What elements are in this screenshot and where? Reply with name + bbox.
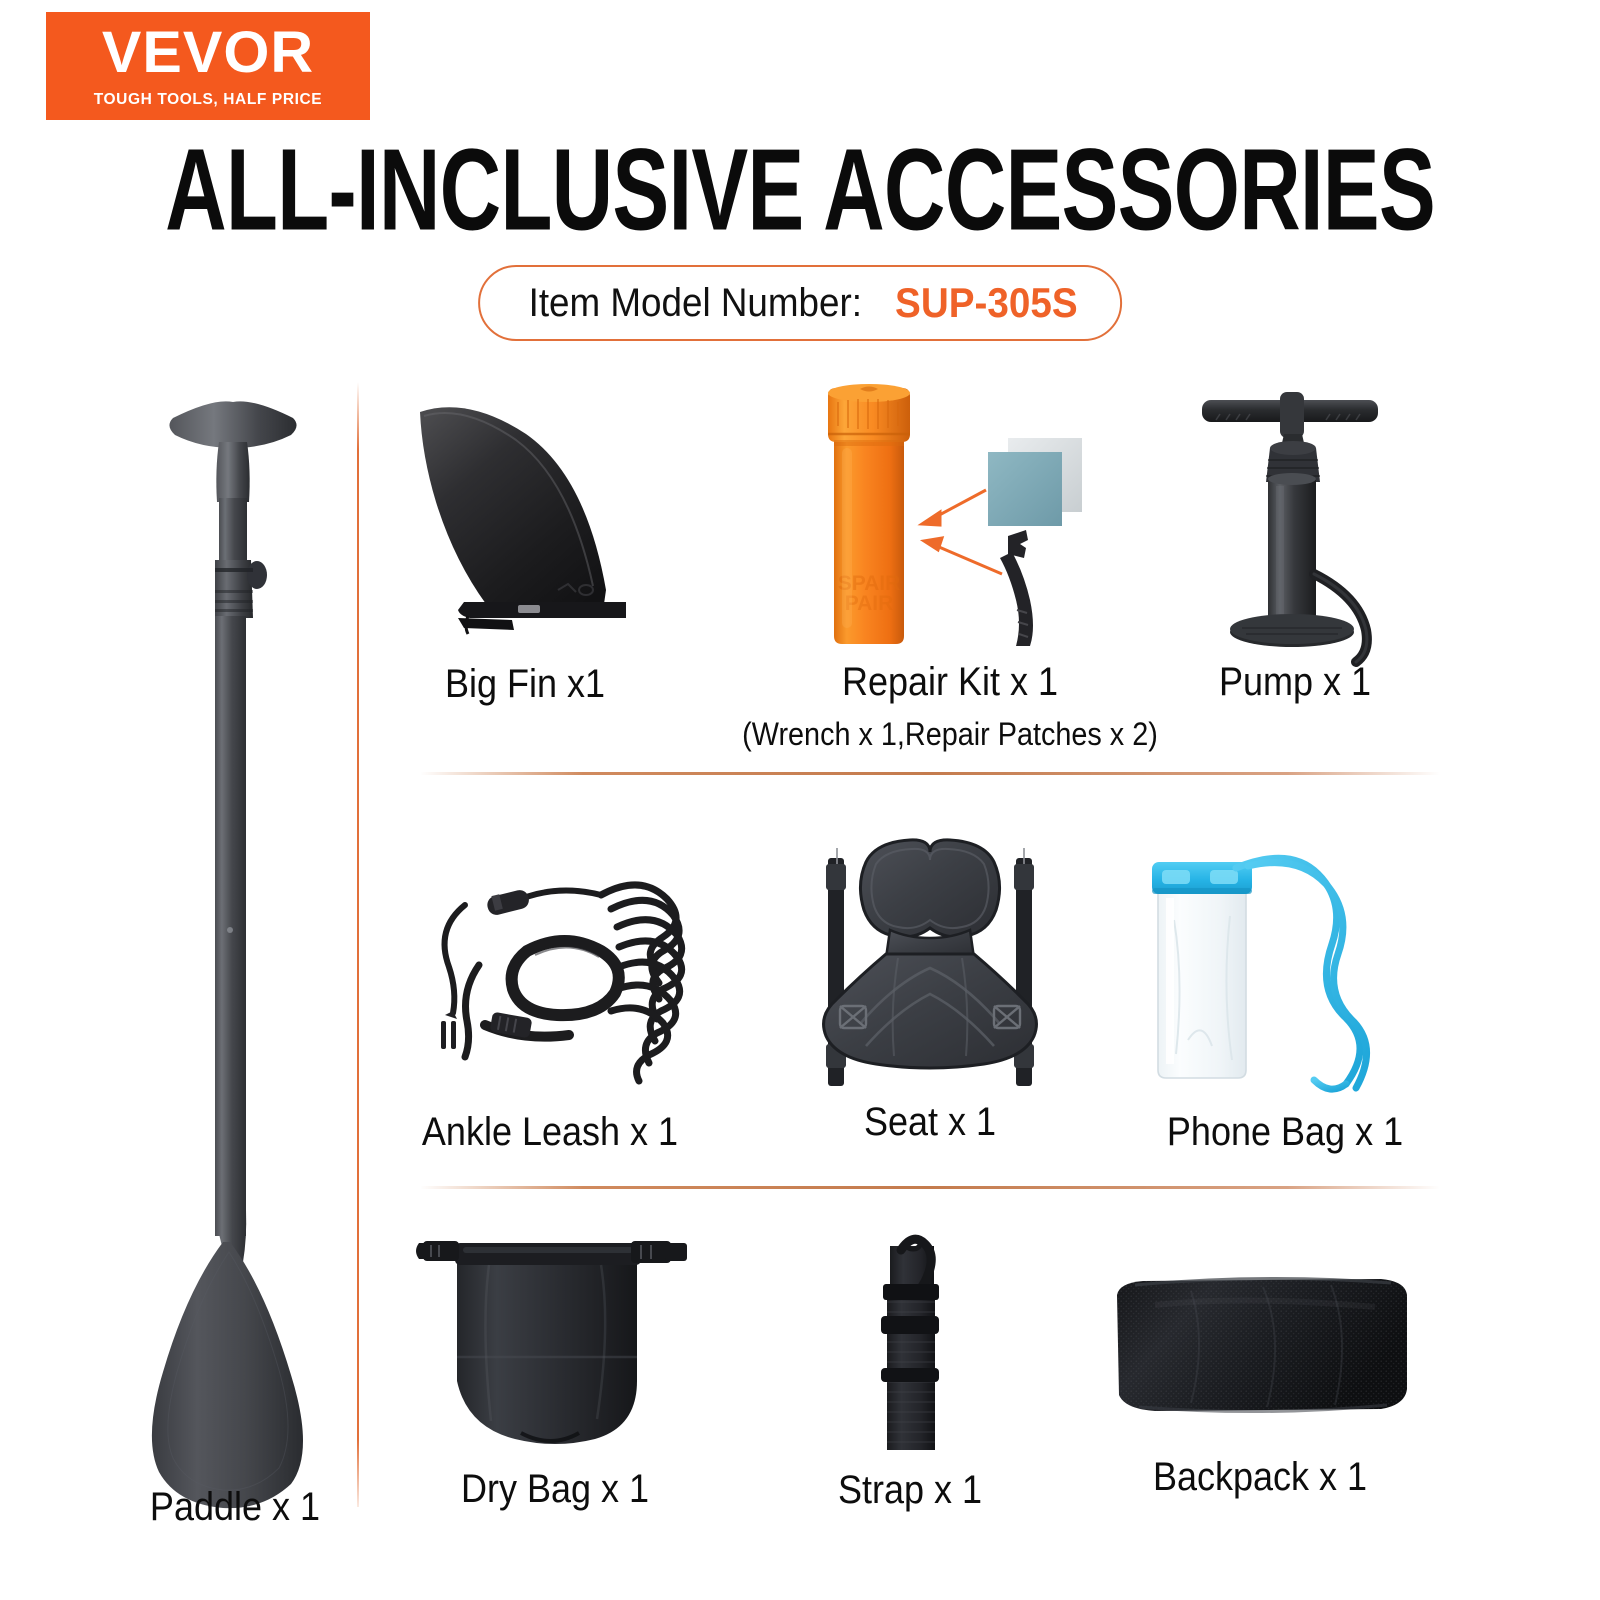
big-fin-illustration <box>390 390 660 640</box>
horizontal-divider-2 <box>420 1186 1440 1189</box>
item-dry-bag: Dry Bag x 1 <box>415 1205 695 1455</box>
subcaption-repair-kit: (Wrench x 1,Repair Patches x 2) <box>742 716 1158 753</box>
model-number-value: SUP-305S <box>895 279 1078 327</box>
ankle-leash-illustration <box>405 855 695 1085</box>
caption-big-fin: Big Fin x1 <box>445 662 605 707</box>
item-backpack: Backpack x 1 <box>1095 1265 1425 1445</box>
item-paddle: Paddle x 1 <box>115 390 355 1470</box>
dry-bag-illustration <box>415 1205 695 1455</box>
caption-strap: Strap x 1 <box>838 1468 982 1513</box>
brand-tagline: TOUGH TOOLS, HALF PRICE <box>94 91 323 109</box>
model-number-label: Item Model Number: <box>529 281 862 326</box>
paddle-illustration <box>115 390 355 1470</box>
vertical-divider <box>357 382 359 1507</box>
strap-illustration <box>835 1210 985 1455</box>
seat-illustration <box>790 818 1070 1090</box>
item-phone-bag: Phone Bag x 1 <box>1140 840 1430 1100</box>
model-number-badge: Item Model Number: SUP-305S <box>478 265 1122 341</box>
item-pump: Pump x 1 <box>1180 378 1410 658</box>
pump-illustration <box>1180 378 1410 658</box>
caption-dry-bag: Dry Bag x 1 <box>461 1467 649 1512</box>
item-big-fin: Big Fin x1 <box>390 390 660 640</box>
caption-pump: Pump x 1 <box>1219 660 1371 705</box>
page-title: ALL-INCLUSIVE ACCESSORIES <box>144 132 1456 248</box>
caption-ankle-leash: Ankle Leash x 1 <box>422 1110 678 1155</box>
caption-phone-bag: Phone Bag x 1 <box>1167 1110 1403 1155</box>
brand-wordmark: VEVOR <box>102 24 314 82</box>
item-strap: Strap x 1 <box>835 1210 985 1455</box>
item-ankle-leash: Ankle Leash x 1 <box>405 855 695 1085</box>
item-seat: Seat x 1 <box>790 818 1070 1090</box>
backpack-illustration <box>1095 1265 1425 1445</box>
caption-seat: Seat x 1 <box>864 1100 996 1145</box>
item-repair-kit: SPAIR PAIR <box>790 378 1110 648</box>
horizontal-divider-1 <box>420 772 1440 775</box>
repair-kit-illustration: SPAIR PAIR <box>790 378 1110 648</box>
caption-backpack: Backpack x 1 <box>1153 1455 1367 1500</box>
vevor-logo-banner: VEVOR TOUGH TOOLS, HALF PRICE <box>46 12 370 120</box>
caption-paddle: Paddle x 1 <box>150 1485 320 1530</box>
caption-repair-kit: Repair Kit x 1 <box>842 660 1058 705</box>
infographic-page: VEVOR TOUGH TOOLS, HALF PRICE ALL-INCLUS… <box>0 0 1600 1600</box>
phone-bag-illustration <box>1140 840 1430 1100</box>
